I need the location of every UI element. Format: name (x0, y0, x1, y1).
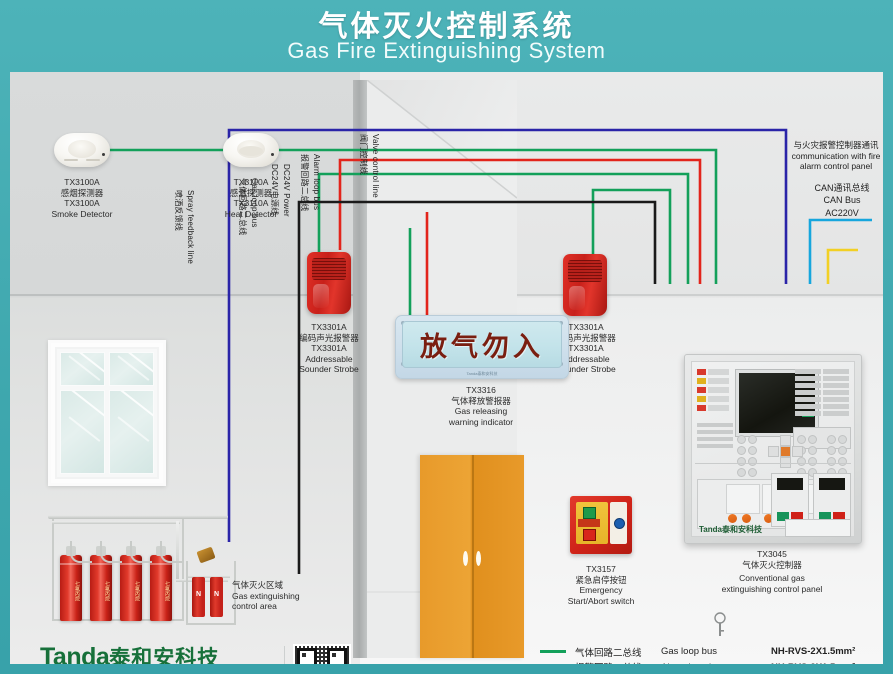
sounder-left-model2: TX3301A (274, 343, 384, 354)
brand-logo-en: Tanda (40, 643, 109, 664)
sounder-strobe-left-caption: TX3301A 编码声光报警器 TX3301A Addressable Soun… (274, 322, 384, 375)
nitrogen-cylinder-label: N (192, 591, 205, 598)
can-bus-en: CAN Bus (800, 194, 883, 206)
gas-area-name-en-1: Gas extinguishing (232, 591, 352, 602)
sounder-strobe-right-icon[interactable] (563, 254, 607, 316)
control-panel-name-cn: 气体灭火控制器 (701, 560, 843, 571)
panel-led-column (697, 369, 731, 414)
nitrogen-cylinder-label: N (210, 591, 223, 598)
window-pane (60, 352, 105, 386)
brand-logo-cn: 泰和安科技 (109, 647, 219, 664)
window-pane (60, 390, 105, 474)
brand-logo-line1: Tanda泰和安科技 (40, 642, 280, 664)
legend-cable-spec: NH-RVS-2X1.5mm² (771, 646, 855, 657)
cylinder-label: 七氟丙烷 (62, 567, 80, 615)
cylinder-label: 七氟丙烷 (92, 567, 110, 615)
window-pane (109, 352, 154, 386)
smoke-detector-caption: TX3100A 感烟探测器 TX3100A Smoke Detector (17, 177, 147, 219)
window-pane (109, 390, 154, 474)
header: 气体灭火控制系统 Gas Fire Extinguishing System (0, 0, 893, 72)
abort-switch-caption: TX3157 紧急启停按钮 Emergency Start/Abort swit… (541, 564, 661, 606)
legend-swatch (540, 650, 566, 653)
can-communication-block: 与火灾报警控制器通讯 communication with fire alarm… (788, 140, 883, 172)
sounder-left-name-en-2: Sounder Strobe (274, 364, 384, 375)
legend-cable-spec: NH-RVS-2X1.5mm² (771, 662, 855, 664)
control-panel-icon[interactable]: Tanda泰和安科技 (684, 354, 862, 544)
sounder-left-name-cn: 编码声光报警器 (274, 333, 384, 344)
legend-label-cn: 报警回路二总线 (575, 660, 661, 664)
abort-switch-model: TX3157 (541, 564, 661, 575)
sounder-strobe-left-icon[interactable] (307, 252, 351, 314)
sounder-left-name-en-1: Addressable (274, 354, 384, 365)
wire-label-dc24v-cn: DC24V电源线 (269, 164, 280, 215)
diagram-root: 气体灭火控制系统 Gas Fire Extinguishing System (0, 0, 893, 674)
legend-label-cn: 气体回路二总线 (575, 645, 661, 659)
legend: 气体回路二总线 Gas loop bus NH-RVS-2X1.5mm² 报警回… (540, 644, 883, 664)
warning-indicator-caption: TX3316 气体释放警报器 Gas releasing warning ind… (421, 385, 541, 427)
diagram-canvas: TX3100A 感烟探测器 TX3100A Smoke Detector TX3… (10, 72, 883, 664)
page-title-en: Gas Fire Extinguishing System (0, 38, 893, 64)
gas-area-name-cn: 气体灭火区域 (232, 580, 352, 591)
can-comm-en-1: communication with fire (788, 151, 883, 162)
warning-indicator-model: TX3316 (421, 385, 541, 396)
wire-label-spray-feedback-en: Spray feedback line (186, 190, 195, 264)
control-panel-caption: TX3045 气体灭火控制器 Conventional gas extingui… (701, 549, 843, 594)
can-bus-block: CAN通讯总线 CAN Bus AC220V (800, 182, 883, 220)
smoke-detector-model2: TX3100A (17, 198, 147, 209)
legend-label-en: Alarm loop bus (661, 662, 771, 664)
wire-label-valve-control-cn: 阀门控制线 (358, 134, 369, 175)
door[interactable] (420, 455, 524, 658)
wire-label-spray-feedback-cn: 喷洒反馈线 (173, 190, 184, 231)
legend-row: 报警回路二总线 Alarm loop bus NH-RVS-2X1.5mm² (540, 660, 883, 665)
smoke-detector-name-en: Smoke Detector (17, 209, 147, 220)
panel-warning-label (785, 519, 851, 537)
smoke-detector-name-cn: 感烟探测器 (17, 188, 147, 199)
window (48, 340, 166, 486)
gas-cylinder-bank: 七氟丙烷 七氟丙烷 七氟丙烷 七氟丙烷 N N (48, 515, 228, 623)
abort-switch-name-en-2: Start/Abort switch (541, 596, 661, 607)
panel-key-switch-icon[interactable] (714, 612, 726, 638)
abort-switch-name-cn: 紧急启停按钮 (541, 575, 661, 586)
smoke-detector-icon[interactable] (54, 133, 110, 173)
wire-label-alarm-loop-en: Alarm loop bus (312, 154, 321, 210)
logo-divider (284, 646, 285, 664)
wire-label-gas-loop-cn: 气体回路二总线 (237, 178, 248, 235)
sounder-left-model: TX3301A (274, 322, 384, 333)
legend-label-en: Gas loop bus (661, 646, 771, 657)
can-comm-cn: 与火灾报警控制器通讯 (788, 140, 883, 151)
cylinder-label: 七氟丙烷 (152, 567, 170, 615)
gas-area-caption: 气体灭火区域 Gas extinguishing control area (232, 580, 352, 612)
wire-label-gas-loop-en: Gas loop bus (250, 178, 259, 228)
abort-switch-name-en-1: Emergency (541, 585, 661, 596)
panel-right-indicators (795, 369, 851, 416)
wire-label-dc24v-en: DC24V Power (282, 164, 291, 217)
sign-text: 放气勿入 (420, 325, 544, 364)
warning-indicator-name-en-1: Gas releasing (421, 406, 541, 417)
qr-code[interactable] (293, 644, 351, 664)
wire-label-valve-control-en: Valve control line (371, 134, 380, 198)
panel-text-lines (697, 423, 733, 451)
panel-brand-label: Tanda泰和安科技 (699, 524, 762, 535)
can-bus-cn: CAN通讯总线 (800, 182, 883, 194)
can-comm-en-2: alarm control panel (788, 161, 883, 172)
panel-keypad[interactable] (737, 435, 855, 477)
warning-indicator-name-en-2: warning indicator (421, 417, 541, 428)
control-panel-model: TX3045 (701, 549, 843, 560)
cylinder-label: 七氟丙烷 (122, 567, 140, 615)
legend-row: 气体回路二总线 Gas loop bus NH-RVS-2X1.5mm² (540, 644, 883, 660)
control-panel-name-en-2: extinguishing control panel (701, 584, 843, 595)
ac-power-label: AC220V (800, 206, 883, 220)
wire-label-alarm-loop-cn: 报警回路二总线 (299, 154, 310, 211)
brand-logo: Tanda泰和安科技 用心做 为安全 (40, 642, 280, 664)
warning-indicator-name-cn: 气体释放警报器 (421, 396, 541, 407)
gas-area-name-en-2: control area (232, 601, 352, 612)
control-panel-name-en-1: Conventional gas (701, 573, 843, 584)
gas-release-warning-sign[interactable]: 放气勿入 Tanda泰和安科技 (395, 315, 569, 379)
smoke-detector-model: TX3100A (17, 177, 147, 188)
emergency-start-abort-switch-icon[interactable] (570, 496, 632, 554)
sign-brand: Tanda泰和安科技 (396, 371, 568, 377)
